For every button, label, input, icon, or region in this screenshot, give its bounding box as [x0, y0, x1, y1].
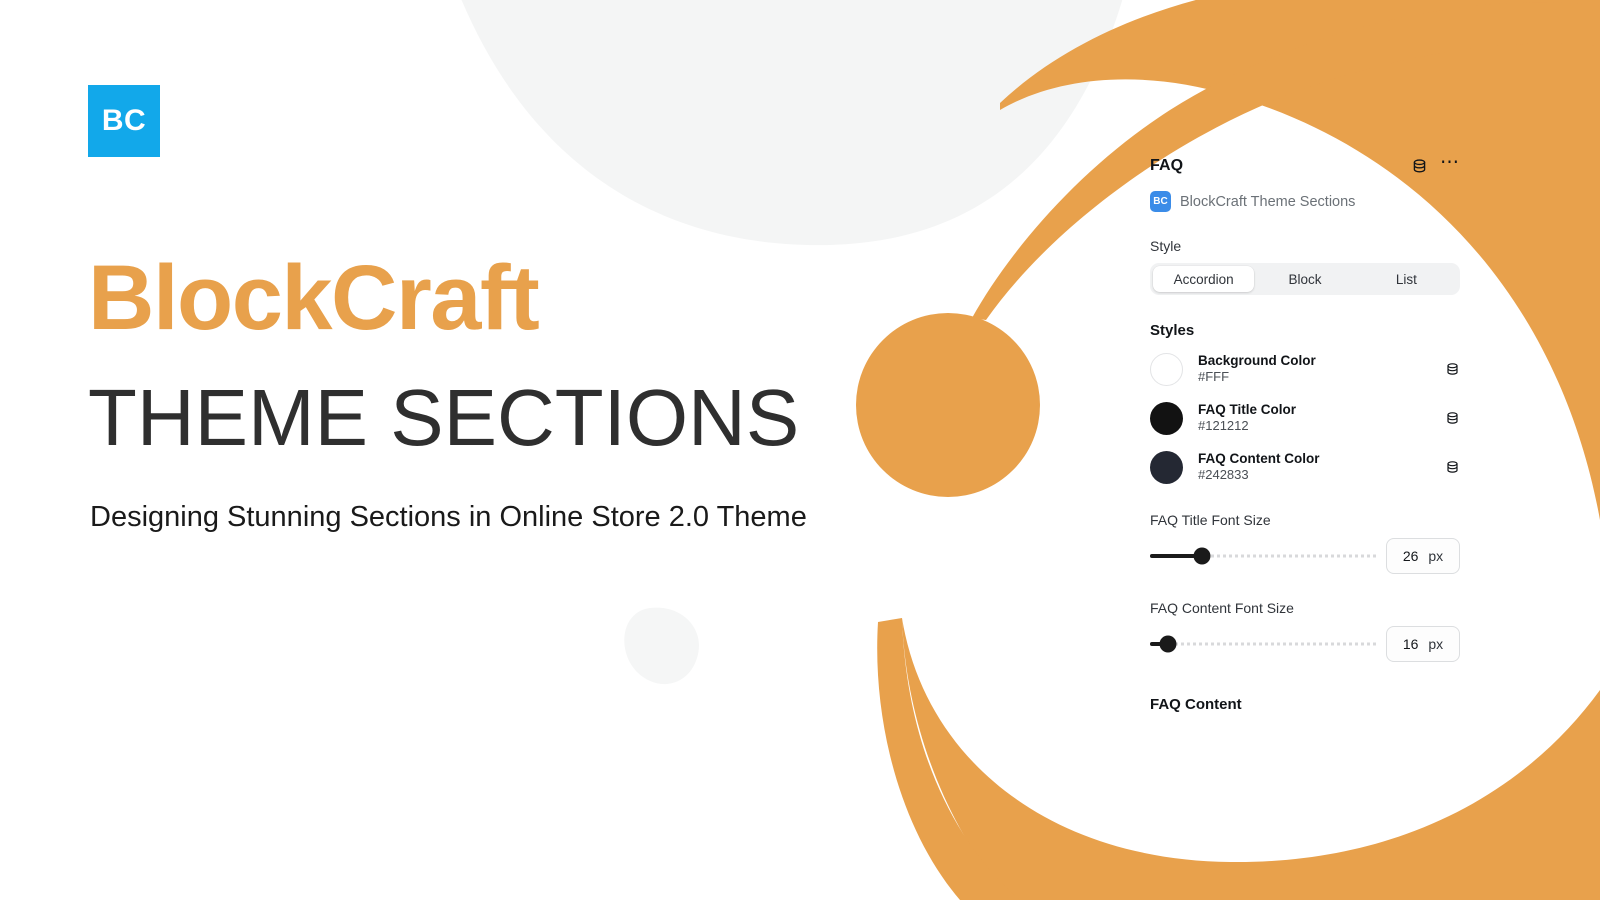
style-option-block[interactable]: Block — [1254, 266, 1355, 292]
color-swatch-faq-title[interactable] — [1150, 402, 1183, 435]
faq-settings-panel: FAQ ⋯ BC BlockCraft Theme Sections Style… — [1150, 155, 1460, 713]
page-title: BlockCraft — [88, 252, 538, 344]
hero-block: BC BlockCraft THEME SECTIONS Designing S… — [88, 0, 888, 900]
color-row-faq-title[interactable]: FAQ Title Color #121212 — [1150, 399, 1460, 437]
color-name-faq-content: FAQ Content Color — [1198, 451, 1445, 467]
faq-title-font-size-label: FAQ Title Font Size — [1150, 512, 1460, 528]
faq-title-font-size-slider[interactable] — [1150, 541, 1376, 571]
style-option-accordion[interactable]: Accordion — [1153, 266, 1254, 292]
database-icon[interactable] — [1445, 460, 1460, 475]
color-row-faq-content[interactable]: FAQ Content Color #242833 — [1150, 448, 1460, 486]
page-subtitle: THEME SECTIONS — [88, 378, 799, 458]
faq-content-font-size-label: FAQ Content Font Size — [1150, 600, 1460, 616]
color-name-faq-title: FAQ Title Color — [1198, 402, 1445, 418]
color-text-faq-content: FAQ Content Color #242833 — [1198, 451, 1445, 483]
color-row-background[interactable]: Background Color #FFF — [1150, 350, 1460, 388]
database-icon[interactable] — [1445, 411, 1460, 426]
faq-content-font-size-slider[interactable] — [1150, 629, 1376, 659]
color-swatch-background[interactable] — [1150, 353, 1183, 386]
faq-title-font-size-row: 26 px — [1150, 538, 1460, 574]
style-segmented-control: Accordion Block List — [1150, 263, 1460, 295]
faq-title-font-size-value: 26 — [1403, 548, 1419, 564]
more-horizontal-icon[interactable]: ⋯ — [1440, 158, 1460, 174]
app-badge-text: BC — [1153, 197, 1167, 207]
faq-content-font-size-row: 16 px — [1150, 626, 1460, 662]
faq-content-font-size-value: 16 — [1403, 636, 1419, 652]
color-text-faq-title: FAQ Title Color #121212 — [1198, 402, 1445, 434]
panel-app-row: BC BlockCraft Theme Sections — [1150, 191, 1460, 212]
app-name-label: BlockCraft Theme Sections — [1180, 194, 1355, 210]
style-option-list[interactable]: List — [1356, 266, 1457, 292]
color-value-faq-title: #121212 — [1198, 419, 1445, 434]
page-tagline: Designing Stunning Sections in Online St… — [90, 500, 807, 535]
slider-thumb[interactable] — [1160, 636, 1177, 653]
color-name-background: Background Color — [1198, 353, 1445, 369]
color-text-background: Background Color #FFF — [1198, 353, 1445, 385]
database-icon[interactable] — [1411, 158, 1428, 175]
app-badge-icon: BC — [1150, 191, 1171, 212]
styles-heading: Styles — [1150, 322, 1460, 339]
faq-content-font-size-unit: px — [1428, 636, 1443, 652]
panel-header-actions: ⋯ — [1411, 158, 1460, 175]
color-value-faq-content: #242833 — [1198, 468, 1445, 483]
brand-logo: BC — [88, 85, 160, 157]
slider-track — [1150, 643, 1376, 646]
faq-title-font-size-unit: px — [1428, 548, 1443, 564]
color-swatch-faq-content[interactable] — [1150, 451, 1183, 484]
brand-logo-text: BC — [102, 106, 146, 136]
panel-header: FAQ ⋯ — [1150, 155, 1460, 177]
slider-thumb[interactable] — [1193, 548, 1210, 565]
faq-content-font-size-input[interactable]: 16 px — [1386, 626, 1460, 662]
database-icon[interactable] — [1445, 362, 1460, 377]
faq-content-heading: FAQ Content — [1150, 696, 1460, 713]
panel-title: FAQ — [1150, 157, 1183, 175]
style-label: Style — [1150, 238, 1460, 254]
color-value-background: #FFF — [1198, 370, 1445, 385]
faq-title-font-size-input[interactable]: 26 px — [1386, 538, 1460, 574]
